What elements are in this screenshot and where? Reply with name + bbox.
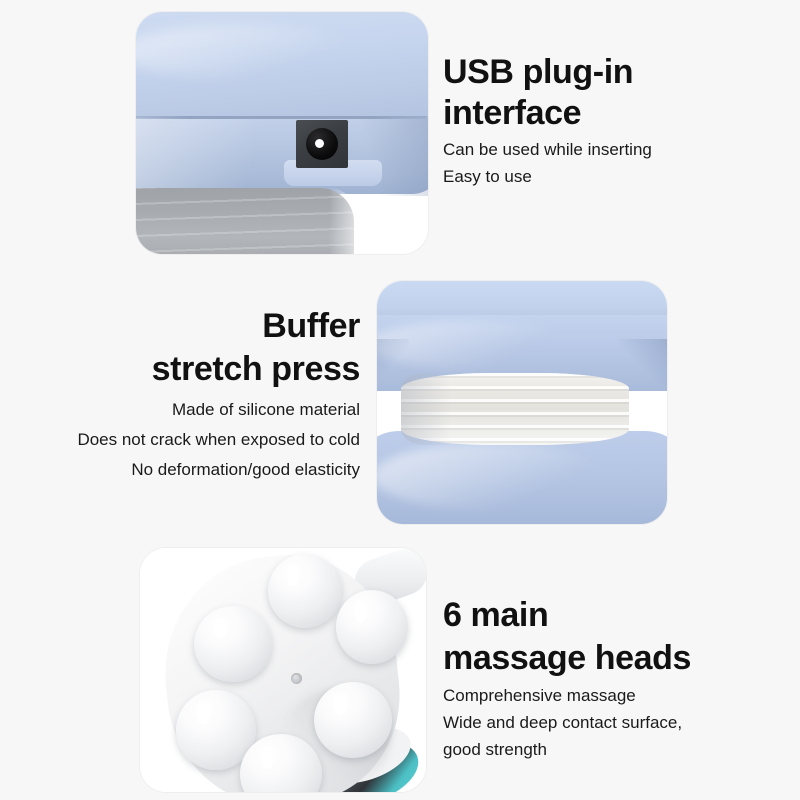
feature-subline-3: good strength [443, 739, 783, 761]
usb-port-pin [315, 139, 324, 148]
device-shell-top [136, 12, 428, 124]
feature-headline-line1: 6 main [443, 594, 783, 637]
feature-subline-2: Wide and deep contact surface, [443, 712, 783, 734]
usb-port-illustration [136, 12, 428, 254]
product-photo-massage-heads [140, 548, 426, 792]
feature-subline-1: Made of silicone material [20, 399, 360, 421]
massage-heads-illustration [140, 548, 426, 792]
silicone-bellows [401, 373, 629, 445]
massage-head-ball [314, 682, 392, 758]
feature-subline-3: No deformation/good elasticity [20, 459, 360, 481]
feature-headline-line2: interface [443, 93, 773, 134]
feature-headline-line1: USB plug-in [443, 52, 773, 93]
feature-headline-line1: Buffer [20, 305, 360, 348]
feature-text-massage-heads: 6 main massage heads Comprehensive massa… [443, 594, 783, 761]
product-infographic: USB plug-in interface Can be used while … [0, 0, 800, 800]
feature-subline-2: Does not crack when exposed to cold [20, 429, 360, 451]
feature-text-usb: USB plug-in interface Can be used while … [443, 52, 773, 188]
massage-head-ball [194, 606, 272, 682]
center-indicator-dot [291, 673, 302, 684]
bellows-illustration [377, 281, 667, 524]
silicone-grip-body [136, 188, 354, 254]
massage-head-ball [268, 554, 342, 628]
feature-headline-line2: massage heads [443, 637, 783, 680]
feature-headline-line2: stretch press [20, 348, 360, 391]
device-top-cap [377, 281, 667, 319]
product-photo-silicone-bellows [377, 281, 667, 524]
feature-text-buffer: Buffer stretch press Made of silicone ma… [20, 305, 360, 481]
usb-port-icon [296, 120, 348, 168]
feature-subline-1: Comprehensive massage [443, 685, 783, 707]
device-seam-line [136, 116, 428, 119]
massage-head-ball [336, 590, 408, 664]
feature-subline-1: Can be used while inserting [443, 139, 773, 161]
feature-subline-2: Easy to use [443, 166, 773, 188]
product-photo-usb-port [136, 12, 428, 254]
